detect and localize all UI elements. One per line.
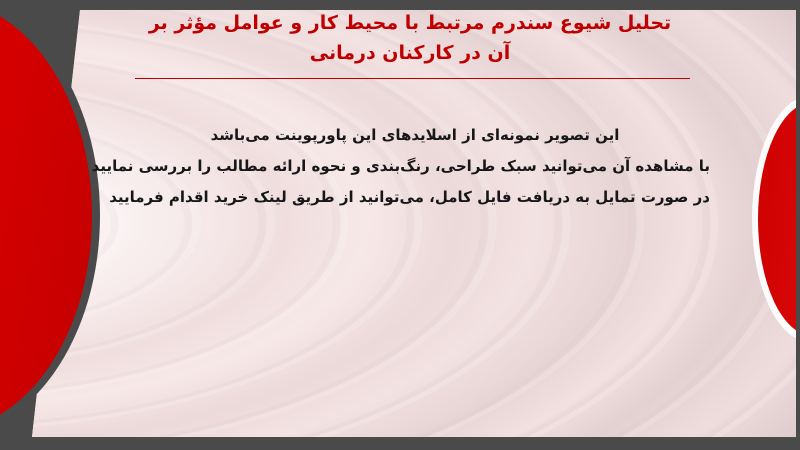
slide-title-line-2: آن در کارکنان درمانی bbox=[120, 38, 700, 68]
slide-body-text: این تصویر نمونه‌ای از اسلایدهای این پاور… bbox=[120, 120, 710, 213]
title-underline-rule bbox=[135, 78, 690, 79]
slide-title-line-1: تحلیل شیوع سندرم مرتبط با محیط کار و عوا… bbox=[120, 8, 700, 38]
body-line-3: در صورت تمایل به دریافت فایل کامل، می‌تو… bbox=[120, 182, 710, 213]
right-frame-bar bbox=[796, 0, 800, 450]
slide-content-panel bbox=[0, 10, 800, 437]
body-line-2: با مشاهده آن می‌توانید سبک طراحی، رنگ‌بن… bbox=[120, 151, 710, 182]
slide-title: تحلیل شیوع سندرم مرتبط با محیط کار و عوا… bbox=[120, 8, 700, 68]
body-line-1: این تصویر نمونه‌ای از اسلایدهای این پاور… bbox=[120, 120, 710, 151]
bottom-frame-bar bbox=[0, 437, 800, 450]
slide-canvas: تحلیل شیوع سندرم مرتبط با محیط کار و عوا… bbox=[0, 0, 800, 450]
top-frame-bar bbox=[0, 0, 800, 10]
